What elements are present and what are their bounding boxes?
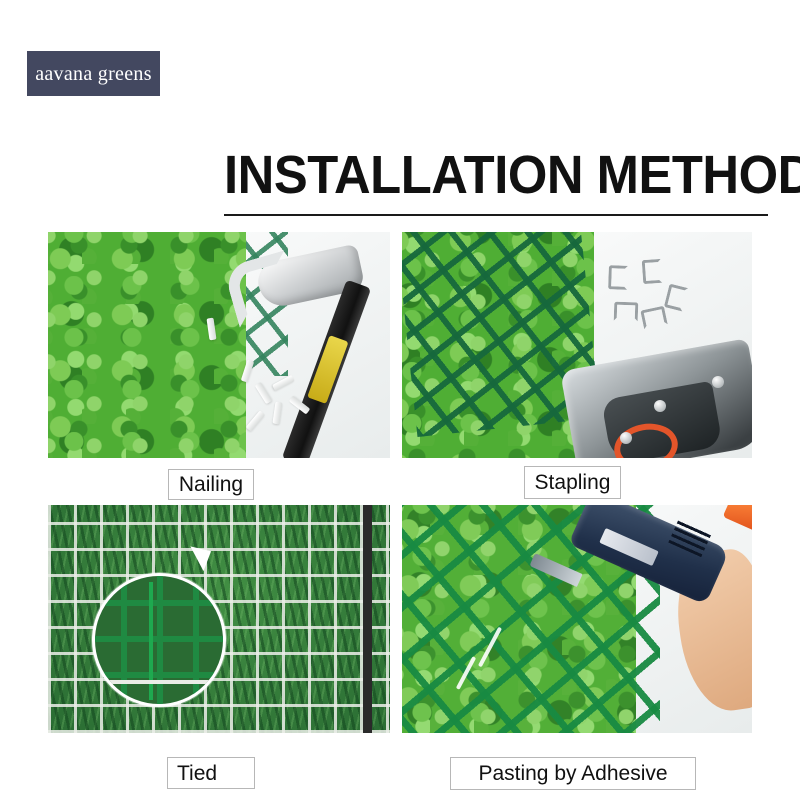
cable-tie-horizontal — [101, 680, 219, 684]
method-image-nailing — [48, 232, 390, 458]
brand-logo-text: aavana greens — [35, 64, 152, 84]
caption-label: Tied — [177, 763, 217, 784]
method-caption-adhesive: Pasting by Adhesive — [450, 757, 696, 790]
staple-icon — [608, 265, 628, 290]
brand-logo: aavana greens TM — [27, 51, 160, 96]
page-title: INSTALLATION METHOD — [224, 148, 737, 203]
method-caption-tied: Tied — [167, 757, 255, 789]
staple-gun-bolt — [654, 400, 666, 412]
hedge-foliage — [48, 232, 246, 458]
magnified-grid — [92, 573, 226, 707]
railing-post — [363, 505, 372, 733]
method-caption-stapling: Stapling — [524, 466, 621, 499]
method-caption-nailing: Nailing — [168, 469, 254, 500]
title-underline-rule — [224, 214, 768, 216]
method-image-stapling — [402, 232, 752, 458]
staple-gun-bolt — [712, 376, 724, 388]
magnifier-callout-icon — [92, 573, 226, 707]
staple-icon — [614, 302, 639, 322]
method-image-adhesive — [402, 505, 752, 733]
staple-gun-bolt — [620, 432, 632, 444]
caption-label: Stapling — [535, 472, 611, 493]
method-image-tied — [48, 505, 390, 733]
trademark-symbol: TM — [159, 48, 171, 56]
caption-label: Nailing — [179, 474, 243, 495]
caption-label: Pasting by Adhesive — [478, 763, 667, 784]
staple-icon — [642, 259, 663, 284]
